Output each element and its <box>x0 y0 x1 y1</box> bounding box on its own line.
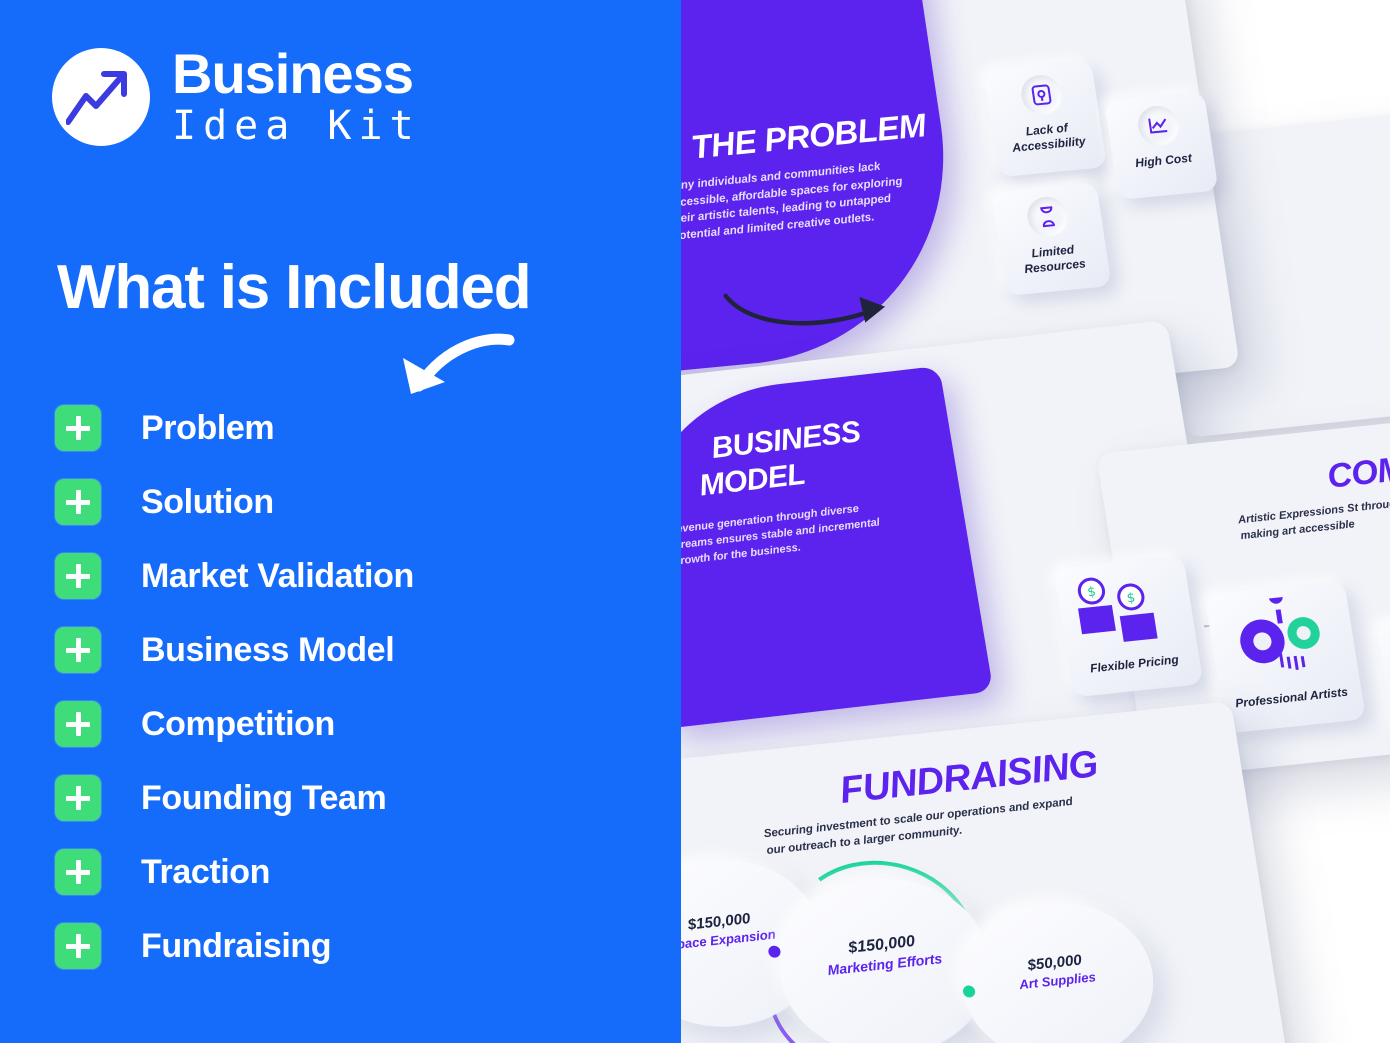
list-item[interactable]: Problem <box>55 391 414 465</box>
list-item-label: Solution <box>141 483 274 522</box>
competition-factor-label: Flexible Pricing <box>1073 651 1197 678</box>
brand-name-primary: Business <box>172 47 421 102</box>
plus-icon <box>55 775 101 821</box>
page-title: What is Included <box>57 252 530 323</box>
list-item[interactable]: Business Model <box>55 613 414 687</box>
problem-factor-card: Limited Resources <box>991 182 1111 296</box>
competition-slide-title: COMP <box>1325 448 1390 497</box>
problem-factor-label: Lack of Accessibility <box>996 118 1100 157</box>
competition-factor-card: $ $ Flexible Pricing <box>1054 555 1204 697</box>
list-item[interactable]: Fundraising <box>55 909 414 983</box>
feature-list: Problem Solution Market Validation Busin… <box>55 391 414 983</box>
fundraising-slide-preview[interactable]: FUNDRAISING Securing investment to scale… <box>681 701 1289 1043</box>
list-item-label: Traction <box>141 853 270 892</box>
problem-factor-label: High Cost <box>1115 149 1213 173</box>
list-item-label: Business Model <box>141 631 394 670</box>
list-item-label: Market Validation <box>141 557 414 596</box>
brand-name-secondary: Idea Kit <box>172 104 421 148</box>
growth-chart-arrow-icon <box>52 48 150 146</box>
list-item-label: Competition <box>141 705 335 744</box>
list-item[interactable]: Market Validation <box>55 539 414 613</box>
list-item-label: Problem <box>141 409 274 448</box>
plus-icon <box>55 923 101 969</box>
list-item[interactable]: Solution <box>55 465 414 539</box>
list-item-label: Founding Team <box>141 779 386 818</box>
competition-factor-card: C Int <box>1376 611 1390 742</box>
gears-icon <box>1222 592 1343 689</box>
problem-factor-label: Limited Resources <box>1002 240 1106 279</box>
brand-logo: Business Idea Kit <box>52 47 421 148</box>
locked-document-icon <box>1019 73 1065 116</box>
list-item[interactable]: Competition <box>55 687 414 761</box>
problem-factor-card: Lack of Accessibility <box>983 60 1107 177</box>
problem-factor-card: High Cost <box>1104 91 1218 199</box>
plus-icon <box>55 479 101 525</box>
plus-icon <box>55 849 101 895</box>
fundraising-bubble: $50,000 Art Supplies <box>951 893 1165 1043</box>
list-item-label: Fundraising <box>141 927 331 966</box>
money-bars-icon: $ $ <box>1067 570 1171 656</box>
plus-icon <box>55 405 101 451</box>
plus-icon <box>55 553 101 599</box>
plus-icon <box>55 627 101 673</box>
slide-previews-area: Drop-in Fees ion Workshops Acc Spa THE P… <box>681 0 1390 1043</box>
left-blue-panel: Business Idea Kit What is Included Probl… <box>0 0 681 1043</box>
hourglass-icon <box>1025 195 1071 238</box>
list-item[interactable]: Traction <box>55 835 414 909</box>
poster-canvas: Business Idea Kit What is Included Probl… <box>0 0 1390 1043</box>
plus-icon <box>55 701 101 747</box>
declining-chart-icon <box>1135 104 1181 147</box>
list-item[interactable]: Founding Team <box>55 761 414 835</box>
